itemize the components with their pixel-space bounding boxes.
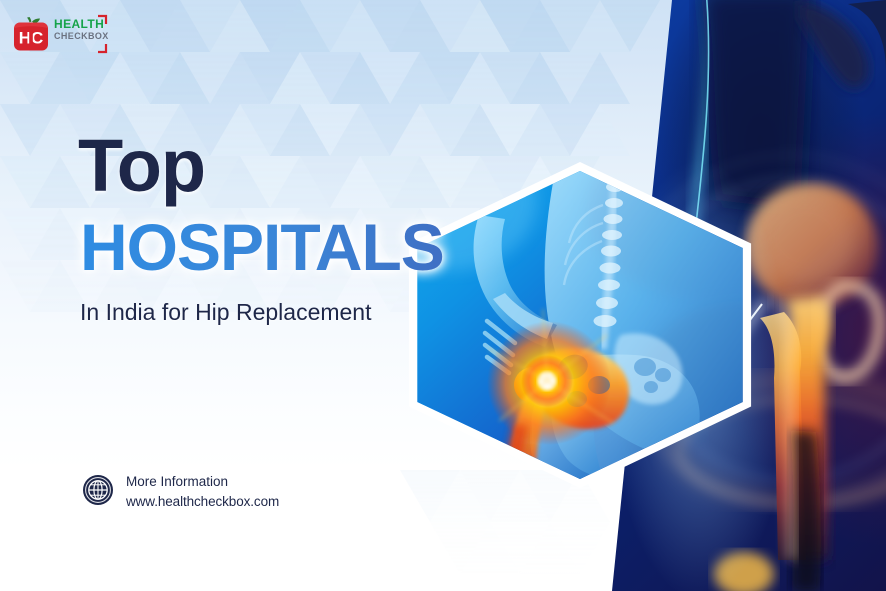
headline-line-2: HOSPITALS — [80, 214, 444, 280]
hexagon-image-clip — [407, 171, 753, 479]
logo-wordmark: HEALTH CHECKBOX — [54, 18, 109, 41]
hip-pain-anatomy-illustration — [407, 171, 753, 479]
headline-line-3: In India for Hip Replacement — [80, 299, 372, 327]
more-information-block[interactable]: More Information www.healthcheckbox.com — [82, 470, 342, 512]
brand-logo[interactable]: HC HEALTH CHECKBOX — [12, 14, 108, 54]
more-information-text: More Information www.healthcheckbox.com — [126, 472, 279, 511]
logo-health-text: HEALTH — [54, 18, 109, 31]
hexagon-image-frame — [398, 162, 762, 488]
headline-line-1: Top — [78, 129, 205, 203]
logo-checkbox-text: CHECKBOX — [54, 31, 109, 41]
website-url[interactable]: www.healthcheckbox.com — [126, 492, 279, 512]
banner-root: HC HEALTH CHECKBOX Top HOSPITALS In Indi… — [0, 0, 886, 591]
globe-icon — [82, 474, 114, 506]
apple-logo-icon: HC — [12, 16, 50, 52]
more-information-label: More Information — [126, 472, 279, 492]
